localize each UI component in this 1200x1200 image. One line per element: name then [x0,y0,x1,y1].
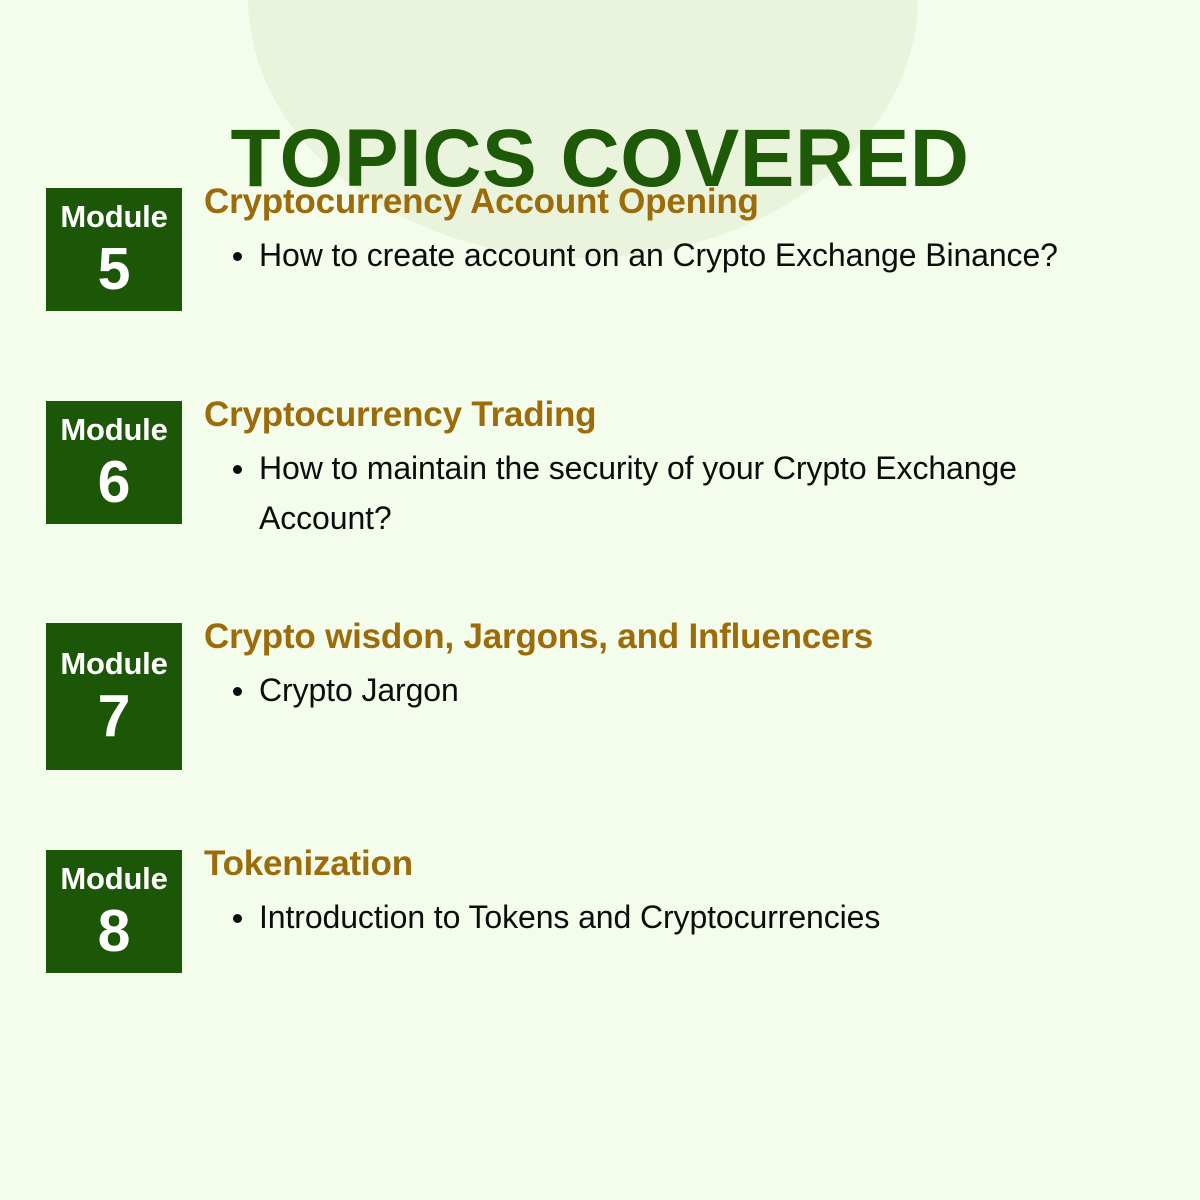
module-bullet-list: Crypto Jargon [204,665,1140,715]
module-content: Crypto wisdon, Jargons, and Influencers … [182,615,1200,715]
list-item-text: Crypto Jargon [259,672,459,708]
module-content: Cryptocurrency Trading How to maintain t… [182,393,1200,543]
slide-canvas: TOPICS COVERED Module 5 Cryptocurrency A… [0,0,1200,1200]
list-item: How to maintain the security of your Cry… [204,443,1140,543]
module-heading: Tokenization [204,842,1140,886]
list-item-text: How to maintain the security of your Cry… [259,450,1017,536]
module-badge-number: 7 [98,684,131,748]
module-list: Module 5 Cryptocurrency Account Opening … [0,188,1200,983]
module-row: Module 8 Tokenization Introduction to To… [0,850,1200,983]
module-row: Module 5 Cryptocurrency Account Opening … [0,188,1200,321]
list-item-text: How to create account on an Crypto Excha… [259,237,1058,273]
module-badge-label: Module [60,412,167,448]
list-item: Crypto Jargon [204,665,1140,715]
module-row: Module 7 Crypto wisdon, Jargons, and Inf… [0,623,1200,770]
bullet-dot-icon [233,914,242,923]
module-heading: Cryptocurrency Trading [204,393,1140,437]
module-badge-number: 5 [98,237,131,301]
module-heading: Crypto wisdon, Jargons, and Influencers [204,615,1140,659]
list-item: How to create account on an Crypto Excha… [204,230,1140,280]
module-bullet-list: How to create account on an Crypto Excha… [204,230,1140,280]
bullet-dot-icon [233,252,242,261]
module-badge-label: Module [60,861,167,897]
module-badge-5: Module 5 [46,188,182,311]
module-content: Tokenization Introduction to Tokens and … [182,842,1200,942]
list-item: Introduction to Tokens and Cryptocurrenc… [204,892,1140,942]
module-badge-number: 8 [98,899,131,963]
list-item-text: Introduction to Tokens and Cryptocurrenc… [259,899,880,935]
module-heading: Cryptocurrency Account Opening [204,180,1140,224]
module-bullet-list: Introduction to Tokens and Cryptocurrenc… [204,892,1140,942]
module-badge-number: 6 [98,450,131,514]
module-content: Cryptocurrency Account Opening How to cr… [182,180,1200,280]
module-badge-label: Module [60,199,167,235]
module-badge-7: Module 7 [46,623,182,770]
module-bullet-list: How to maintain the security of your Cry… [204,443,1140,543]
module-row: Module 6 Cryptocurrency Trading How to m… [0,401,1200,543]
module-badge-label: Module [60,646,167,682]
bullet-dot-icon [233,465,242,474]
bullet-dot-icon [233,687,242,696]
module-badge-8: Module 8 [46,850,182,973]
module-badge-6: Module 6 [46,401,182,524]
